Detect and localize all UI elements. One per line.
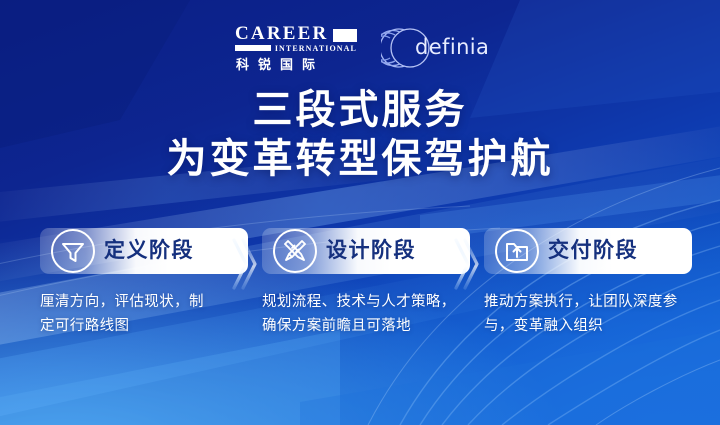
folder-upload-icon: [493, 227, 541, 275]
career-chinese-name: 科锐国际: [235, 57, 357, 72]
funnel-icon: [49, 227, 97, 275]
stage-card-description: 规划流程、技术与人才策略，确保方案前瞻且可落地: [262, 290, 462, 338]
title-line-2: 为变革转型保驾护航: [0, 134, 720, 184]
poster-banner: CAREER INTERNATIONAL 科锐国际 definia: [0, 0, 720, 425]
career-wordmark: CAREER: [235, 25, 328, 42]
page-title: 三段式服务 为变革转型保驾护航: [0, 86, 720, 184]
title-line-1: 三段式服务: [0, 86, 720, 134]
stage-card-description: 推动方案执行，让团队深度参与，变革融入组织: [484, 290, 684, 338]
stage-cards: 定义阶段 厘清方向，评估现状，制定可行路线图: [0, 228, 720, 388]
career-logo-bar: [235, 45, 271, 51]
definia-logo: definia: [381, 26, 485, 70]
stage-card-design[interactable]: 设计阶段 规划流程、技术与人才策略，确保方案前瞻且可落地: [262, 228, 470, 338]
international-wordmark: INTERNATIONAL: [275, 44, 357, 53]
stage-card-title: 定义阶段: [104, 239, 194, 263]
definia-wordmark: definia: [415, 35, 489, 59]
double-chevron-right-icon: [230, 236, 258, 292]
ruler-pencil-icon: [271, 227, 319, 275]
stage-card-delivery[interactable]: 交付阶段 推动方案执行，让团队深度参与，变革融入组织: [484, 228, 692, 338]
stage-card-description: 厘清方向，评估现状，制定可行路线图: [40, 290, 218, 338]
stage-card-title: 设计阶段: [326, 239, 416, 263]
stage-card-title: 交付阶段: [548, 239, 638, 263]
stage-card-header: 交付阶段: [484, 228, 692, 274]
career-international-logo: CAREER INTERNATIONAL 科锐国际: [235, 25, 357, 72]
stage-card-define[interactable]: 定义阶段 厘清方向，评估现状，制定可行路线图: [40, 228, 248, 338]
stage-card-header: 定义阶段: [40, 228, 248, 274]
double-chevron-right-icon: [452, 236, 480, 292]
header-logos: CAREER INTERNATIONAL 科锐国际 definia: [0, 20, 720, 76]
career-logo-block: [333, 29, 357, 42]
stage-card-header: 设计阶段: [262, 228, 470, 274]
